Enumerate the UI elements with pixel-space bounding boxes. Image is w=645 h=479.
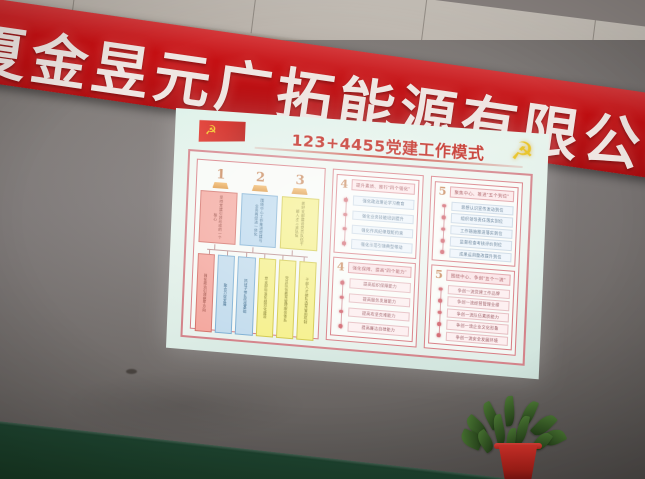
section-title: 围绕中心、争创"五个一流" bbox=[446, 270, 511, 286]
bullet-dot-icon bbox=[437, 322, 441, 326]
item-label: 强化业务技能培训提升 bbox=[352, 210, 414, 224]
bullet-dot-icon bbox=[437, 333, 441, 337]
left-number-1: 1 bbox=[203, 168, 239, 183]
list-item: 提高廉洁自律能力 bbox=[347, 322, 409, 337]
bullet-dot-icon bbox=[340, 281, 344, 285]
ribbon-icon bbox=[291, 188, 307, 195]
left-number-2: 2 bbox=[242, 171, 278, 186]
left-bottom-box: 党支部标准化规范化建设 bbox=[255, 258, 276, 338]
number-cell: 3 bbox=[282, 174, 319, 196]
bullet-dot-icon bbox=[441, 239, 445, 243]
slide-section-4a: 4 提升素质、推行"四个强化" 强化政治理论学习教育 强化业务技能培训提升 强化… bbox=[333, 174, 419, 259]
left-top-box: 抓好支部建设党员队伍干部人才三支队伍 bbox=[280, 196, 319, 251]
flower-pot bbox=[496, 445, 540, 479]
panel-middle: 4 提升素质、推行"四个强化" 强化政治理论学习教育 强化业务技能培训提升 强化… bbox=[326, 169, 424, 348]
bullet-dot-icon bbox=[343, 212, 347, 216]
left-bottom-boxes: 强化政治引领把牢方向 聚合力促发展 抓班子带队伍强基础 党支部标准化规范化建设 … bbox=[195, 253, 317, 341]
potted-plant bbox=[470, 388, 566, 479]
left-top-box: 围绕中心工作推进党建与业务两促进一体化 bbox=[239, 193, 278, 248]
photo-scene: 夏金昱元广拓能源有限公司党员大会 ☭ 123+4455党建工作模式 ☭ 1 bbox=[0, 0, 645, 479]
panel-left: 1 2 3 坚持党建引领形成的一个核心 bbox=[190, 159, 326, 340]
bullet-dot-icon bbox=[339, 310, 343, 314]
list-item: 强化业务技能培训提升 bbox=[352, 210, 414, 224]
left-top-boxes: 坚持党建引领形成的一个核心 围绕中心工作推进党建与业务两促进一体化 抓好支部建设… bbox=[198, 190, 319, 251]
left-bottom-box: 强化政治引领把牢方向 bbox=[195, 253, 215, 332]
item-label: 提高廉洁自律能力 bbox=[347, 322, 409, 337]
left-top-box: 坚持党建引领形成的一个核心 bbox=[198, 190, 237, 245]
section-title: 聚焦中心、推进"五个到位" bbox=[449, 186, 514, 202]
panel-right: 5 聚焦中心、推进"五个到位" 思想认识宣传发动到位 组织领导责任落实到位 工作… bbox=[424, 176, 523, 356]
list-item: 提高攻坚克难能力 bbox=[348, 307, 410, 322]
section-number: 4 bbox=[340, 179, 348, 190]
item-label: 强化示范引领典型带动 bbox=[351, 239, 413, 253]
list-item: 强化政治理论学习教育 bbox=[353, 196, 415, 210]
left-bottom-box: 聚合力促发展 bbox=[215, 255, 235, 335]
bullet-dot-icon bbox=[344, 198, 348, 202]
list-item: 强化作风纪律规矩约束 bbox=[352, 225, 414, 239]
item-label: 强化政治理论学习教育 bbox=[353, 196, 415, 210]
number-cell: 1 bbox=[203, 168, 239, 190]
bullet-dot-icon bbox=[342, 241, 346, 245]
section-number: 5 bbox=[435, 269, 443, 280]
party-flag-icon: ☭ bbox=[199, 119, 246, 145]
item-label: 提高组织保障能力 bbox=[349, 279, 411, 294]
slide-section-5b: 5 围绕中心、争创"五个一流" 争创一流党建工作品牌 争创一流经营管理业绩 争创… bbox=[428, 264, 515, 350]
bullet-dot-icon bbox=[441, 227, 445, 231]
item-label: 强化作风纪律规矩约束 bbox=[352, 225, 414, 239]
section-title: 强化保障、提高"四个能力" bbox=[348, 262, 412, 278]
bullet-dot-icon bbox=[340, 295, 344, 299]
left-bottom-box: 干部人才梯队选育管用机制 bbox=[296, 261, 317, 341]
section-number: 4 bbox=[337, 261, 345, 272]
bullet-dot-icon bbox=[442, 216, 446, 220]
bullet-dot-icon bbox=[438, 310, 442, 314]
flag-emblem-glyph: ☭ bbox=[205, 124, 219, 137]
spine-line bbox=[340, 280, 343, 330]
section-title: 提升素质、推行"四个强化" bbox=[351, 179, 415, 195]
wall-mark bbox=[126, 369, 137, 374]
bullet-dot-icon bbox=[338, 324, 342, 328]
hammer-sickle-emblem-icon: ☭ bbox=[508, 137, 536, 165]
list-item: 提高组织保障能力 bbox=[349, 279, 411, 294]
projection-screen: ☭ 123+4455党建工作模式 ☭ 1 2 bbox=[166, 108, 549, 379]
left-bottom-box: 抓班子带队伍强基础 bbox=[235, 256, 256, 336]
item-label: 提高攻坚克难能力 bbox=[348, 307, 410, 322]
slide-section-4b: 4 强化保障、提高"四个能力" 提高组织保障能力 提高服务发展能力 提高攻坚克难… bbox=[330, 257, 416, 343]
bullet-dot-icon bbox=[440, 250, 444, 254]
slide-section-5a: 5 聚焦中心、推进"五个到位" 思想认识宣传发动到位 组织领导责任落实到位 工作… bbox=[432, 181, 519, 267]
list-item: 强化示范引领典型带动 bbox=[351, 239, 413, 253]
section-number: 5 bbox=[438, 186, 446, 197]
left-number-3: 3 bbox=[282, 174, 318, 189]
bullet-dot-icon bbox=[438, 299, 442, 303]
ribbon-icon bbox=[212, 182, 228, 189]
item-label: 提高服务发展能力 bbox=[349, 293, 411, 308]
spine-line bbox=[344, 197, 347, 247]
slide-chart-frame: 1 2 3 坚持党建引领形成的一个核心 bbox=[180, 149, 532, 366]
bullet-dot-icon bbox=[439, 287, 443, 291]
list-item: 提高服务发展能力 bbox=[349, 293, 411, 308]
ribbon-icon bbox=[252, 185, 268, 192]
bullet-dot-icon bbox=[343, 227, 347, 231]
left-bottom-box: 党员队伍教育管理服务体系 bbox=[276, 259, 297, 339]
number-cell: 2 bbox=[242, 171, 278, 193]
bullet-dot-icon bbox=[442, 204, 446, 208]
